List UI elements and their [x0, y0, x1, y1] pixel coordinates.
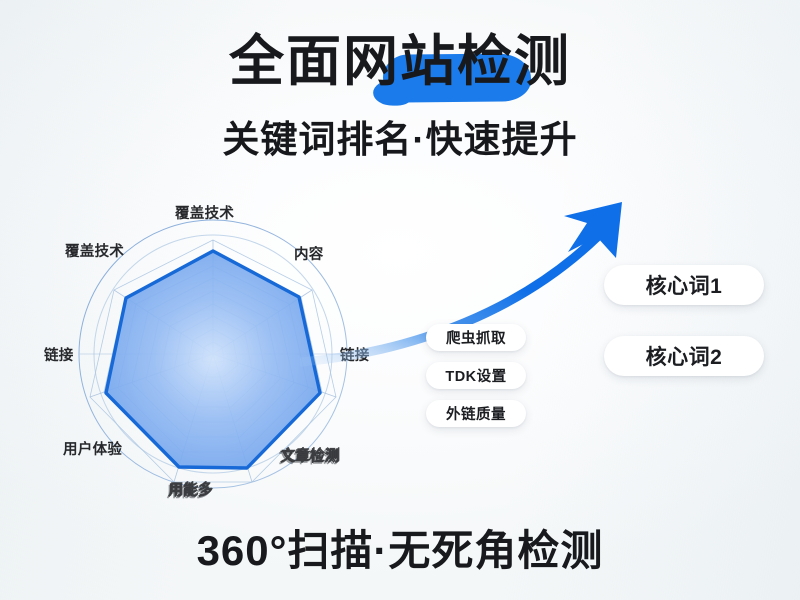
pill-tdk-label: TDK设置	[445, 365, 506, 386]
pill-core-keyword-2[interactable]: 核心词2	[604, 336, 764, 376]
radar-label-lower-right: 文章检测	[280, 445, 339, 466]
radar-label-left: 链接	[44, 344, 74, 365]
radar-label-lower-left: 用户体验	[63, 438, 122, 459]
pill-tdk[interactable]: TDK设置	[426, 362, 526, 389]
poster-canvas: 全面网站检测 关键词排名·快速提升	[0, 0, 800, 600]
pill-crawler[interactable]: 爬虫抓取	[426, 324, 526, 351]
radar-label-upper-right: 内容	[294, 243, 324, 264]
pill-backlink[interactable]: 外链质量	[426, 400, 526, 427]
radar-label-bottom: 用能多	[168, 479, 212, 500]
radar-label-upper-left: 覆盖技术	[65, 240, 124, 261]
radar-chart: 覆盖技术 内容 链接 文章检测 用能多 用户体验 覆盖技术 链接	[36, 196, 416, 516]
radar-label-top: 覆盖技术	[175, 202, 234, 223]
pill-core-keyword-1[interactable]: 核心词1	[604, 265, 764, 305]
footer-tagline: 360°扫描·无死角检测	[0, 517, 800, 578]
page-title: 全面网站检测	[229, 34, 571, 89]
arrow-head	[564, 202, 622, 258]
radar-label-right: 链接	[340, 344, 370, 365]
pill-crawler-label: 爬虫抓取	[446, 327, 506, 348]
headline-block: 全面网站检测 关键词排名·快速提升	[0, 34, 800, 163]
pill-backlink-label: 外链质量	[446, 403, 506, 424]
radar-data-polygon	[106, 251, 320, 468]
pill-core-keyword-2-label: 核心词2	[646, 341, 723, 371]
page-subtitle: 关键词排名·快速提升	[0, 109, 800, 163]
pill-core-keyword-1-label: 核心词1	[646, 270, 723, 300]
